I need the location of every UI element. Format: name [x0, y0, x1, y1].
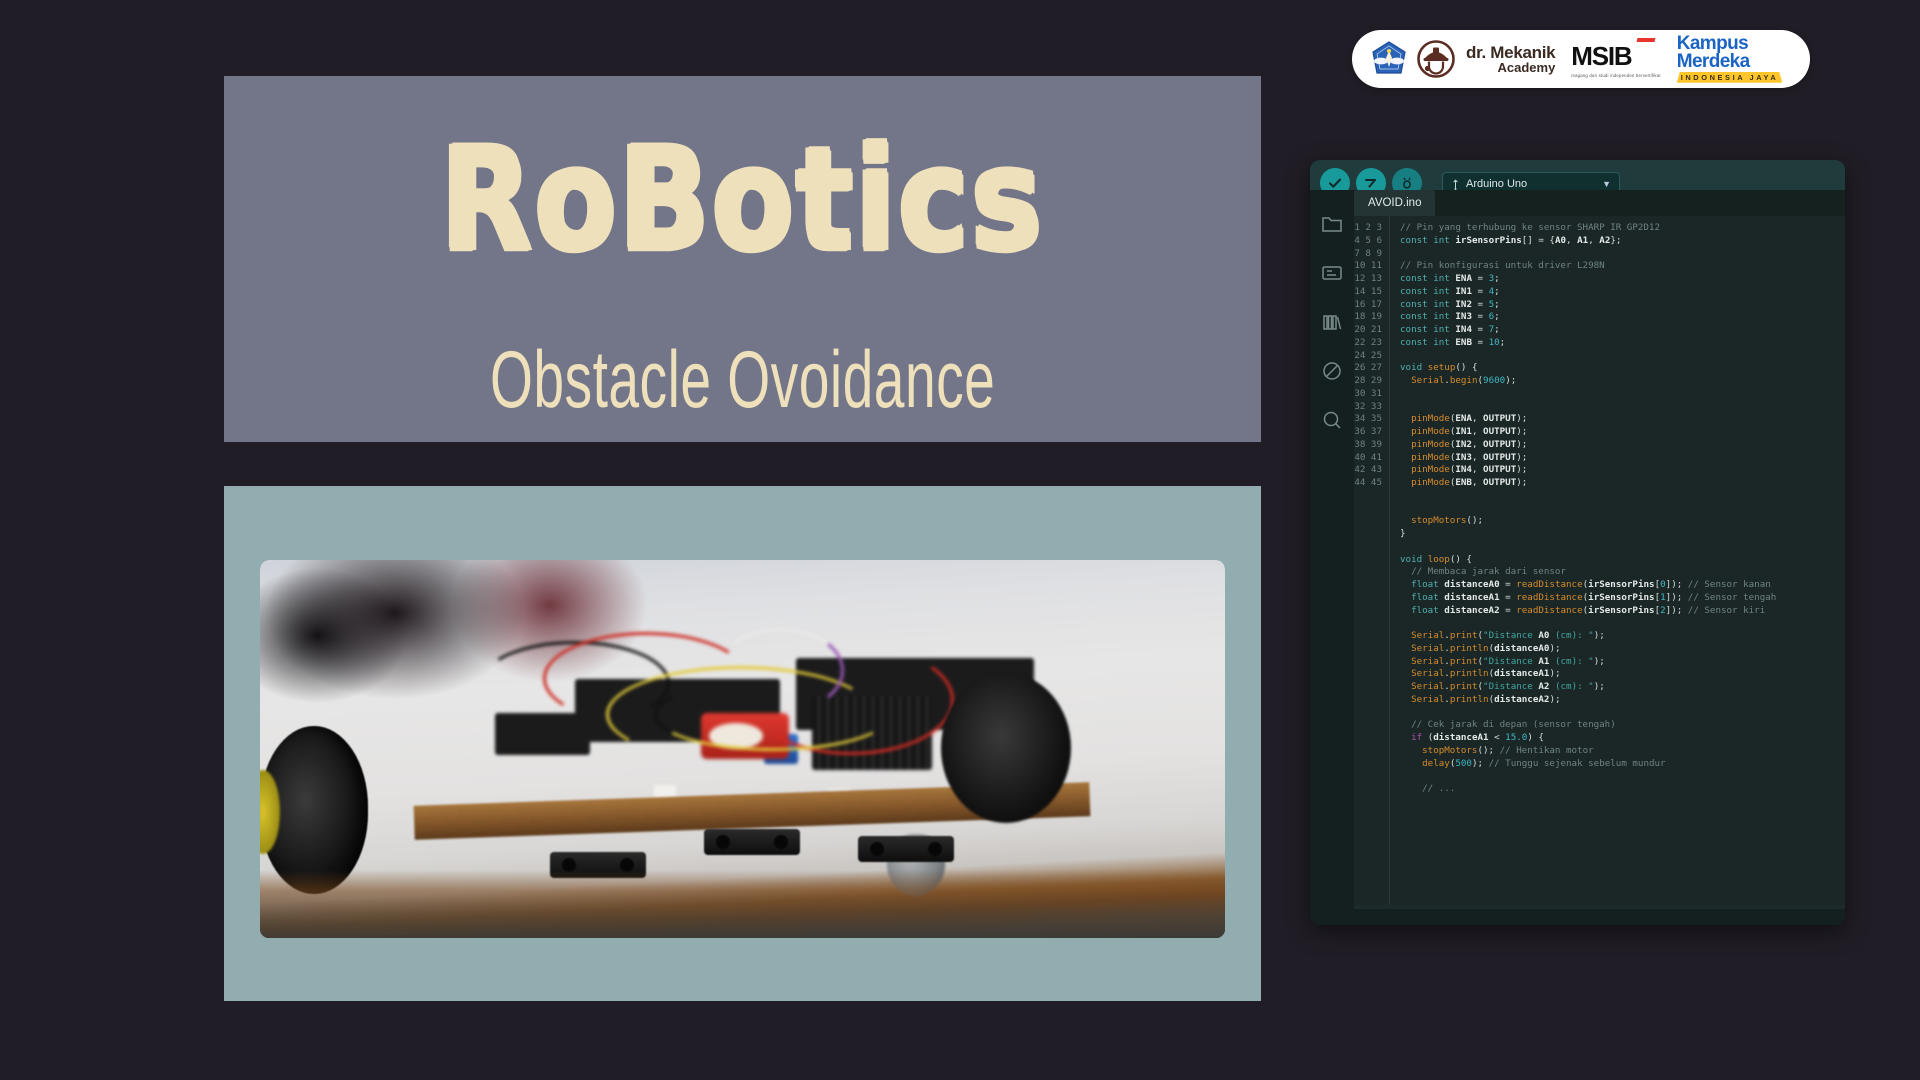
- page-subtitle: Obstacle Ovoidance: [490, 333, 995, 425]
- kampus-merdeka-banner: INDONESIA JAYA: [1677, 72, 1783, 83]
- code-line: [1400, 770, 1845, 783]
- arduino-ide-window: Arduino Uno ▼ AVOID.ino: [1310, 160, 1845, 925]
- code-line: [1400, 707, 1845, 720]
- partner-logo-bar: dr. Mekanik Academy MSIB magang dan stud…: [1352, 30, 1810, 88]
- dr-mekanik-line1: dr. Mekanik: [1466, 44, 1555, 61]
- dr-mekanik-line2: Academy: [1466, 61, 1555, 74]
- ir-sensor-center: [704, 829, 800, 855]
- ide-status-bar: [1310, 909, 1845, 925]
- code-line: const int ENA = 3;: [1400, 273, 1845, 286]
- code-line: // Membaca jarak dari sensor: [1400, 566, 1845, 579]
- code-line: pinMode(IN1, OUTPUT);: [1400, 426, 1845, 439]
- screen: RoBotics Obstacle Ovoidance: [0, 0, 1920, 1080]
- code-line: // Pin yang terhubung ke sensor SHARP IR…: [1400, 222, 1845, 235]
- msib-tagline: magang dan studi independen bersertifika…: [1571, 73, 1660, 78]
- code-line: [1400, 617, 1845, 630]
- code-line: const int IN3 = 6;: [1400, 311, 1845, 324]
- code-line: const int IN2 = 5;: [1400, 299, 1845, 312]
- code-line: pinMode(IN3, OUTPUT);: [1400, 452, 1845, 465]
- tut-wuri-handayani-logo: [1370, 40, 1408, 78]
- robot-rear-wheel: [941, 673, 1071, 823]
- code-line: stopMotors(); // Hentikan motor: [1400, 745, 1845, 758]
- code-line: delay(500); // Tunggu sejenak sebelum mu…: [1400, 758, 1845, 771]
- code-line: Serial.begin(9600);: [1400, 375, 1845, 388]
- code-line: pinMode(IN4, OUTPUT);: [1400, 464, 1845, 477]
- code-line: [1400, 541, 1845, 554]
- slide-photo-panel: [224, 486, 1261, 1001]
- dr-mekanik-academy-text: dr. Mekanik Academy: [1466, 44, 1555, 75]
- robot-photo-image: [260, 560, 1225, 938]
- code-line: Serial.print("Distance A0 (cm): ");: [1400, 630, 1845, 643]
- ir-sensor-right: [858, 836, 954, 862]
- code-line: // Pin konfigurasi untuk driver L298N: [1400, 260, 1845, 273]
- code-line: // ...: [1400, 783, 1845, 796]
- line-number-gutter: 1 2 3 4 5 6 7 8 9 10 11 12 13 14 15 16 1…: [1354, 216, 1390, 905]
- tab-avoid-ino[interactable]: AVOID.ino: [1354, 190, 1435, 216]
- code-line: stopMotors();: [1400, 515, 1845, 528]
- kampus-merdeka-line2: Merdeka: [1677, 53, 1783, 71]
- code-line: float distanceA1 = readDistance(irSensor…: [1400, 592, 1845, 605]
- kampus-merdeka-logo: Kampus Merdeka INDONESIA JAYA: [1677, 35, 1783, 83]
- code-text-area[interactable]: // Pin yang terhubung ke sensor SHARP IR…: [1390, 216, 1845, 905]
- msib-accent-bar: [1636, 38, 1655, 42]
- usb-icon: [1451, 178, 1460, 190]
- code-line: [1400, 248, 1845, 261]
- slide-title-panel: RoBotics Obstacle Ovoidance: [224, 76, 1261, 442]
- code-line: if (distanceA1 < 15.0) {: [1400, 732, 1845, 745]
- code-line: }: [1400, 528, 1845, 541]
- robot-photo: [260, 560, 1225, 938]
- code-line: [1400, 503, 1845, 516]
- code-line: [1400, 350, 1845, 363]
- circle-slash-icon[interactable]: [1320, 359, 1344, 383]
- books-icon[interactable]: [1320, 310, 1344, 334]
- code-line: Serial.print("Distance A2 (cm): ");: [1400, 681, 1845, 694]
- code-line: Serial.println(distanceA1);: [1400, 668, 1845, 681]
- ide-tab-bar: AVOID.ino: [1354, 190, 1845, 216]
- code-line: [1400, 388, 1845, 401]
- code-line: [1400, 490, 1845, 503]
- msib-logo: MSIB magang dan studi independen bersert…: [1571, 41, 1660, 78]
- tab-label: AVOID.ino: [1368, 197, 1421, 209]
- code-line: Serial.println(distanceA0);: [1400, 643, 1845, 656]
- code-line: Serial.print("Distance A1 (cm): ");: [1400, 656, 1845, 669]
- code-editor[interactable]: 1 2 3 4 5 6 7 8 9 10 11 12 13 14 15 16 1…: [1354, 216, 1845, 905]
- board-selected-label: Arduino Uno: [1466, 178, 1527, 190]
- code-line: const int irSensorPins[] = {A0, A1, A2};: [1400, 235, 1845, 248]
- code-line: [1400, 401, 1845, 414]
- search-icon[interactable]: [1320, 408, 1344, 432]
- page-title: RoBotics: [441, 130, 1045, 272]
- code-line: float distanceA2 = readDistance(irSensor…: [1400, 605, 1845, 618]
- code-line: // Cek jarak di depan (sensor tengah): [1400, 719, 1845, 732]
- code-line: const int IN1 = 4;: [1400, 286, 1845, 299]
- code-line: void setup() {: [1400, 362, 1845, 375]
- code-line: pinMode(ENB, OUTPUT);: [1400, 477, 1845, 490]
- folder-icon[interactable]: [1320, 212, 1344, 236]
- code-line: Serial.println(distanceA2);: [1400, 694, 1845, 707]
- code-line: float distanceA0 = readDistance(irSensor…: [1400, 579, 1845, 592]
- chevron-down-icon[interactable]: ▼: [1602, 179, 1611, 189]
- table-edge: [260, 870, 1225, 938]
- code-line: pinMode(ENA, OUTPUT);: [1400, 413, 1845, 426]
- dr-mekanik-academy-logo: [1416, 39, 1456, 79]
- board-icon[interactable]: [1320, 261, 1344, 285]
- code-line: pinMode(IN2, OUTPUT);: [1400, 439, 1845, 452]
- code-line: const int ENB = 10;: [1400, 337, 1845, 350]
- ide-activity-bar: [1310, 190, 1354, 925]
- code-line: void loop() {: [1400, 554, 1845, 567]
- msib-wordmark: MSIB: [1571, 41, 1660, 72]
- code-line: const int IN4 = 7;: [1400, 324, 1845, 337]
